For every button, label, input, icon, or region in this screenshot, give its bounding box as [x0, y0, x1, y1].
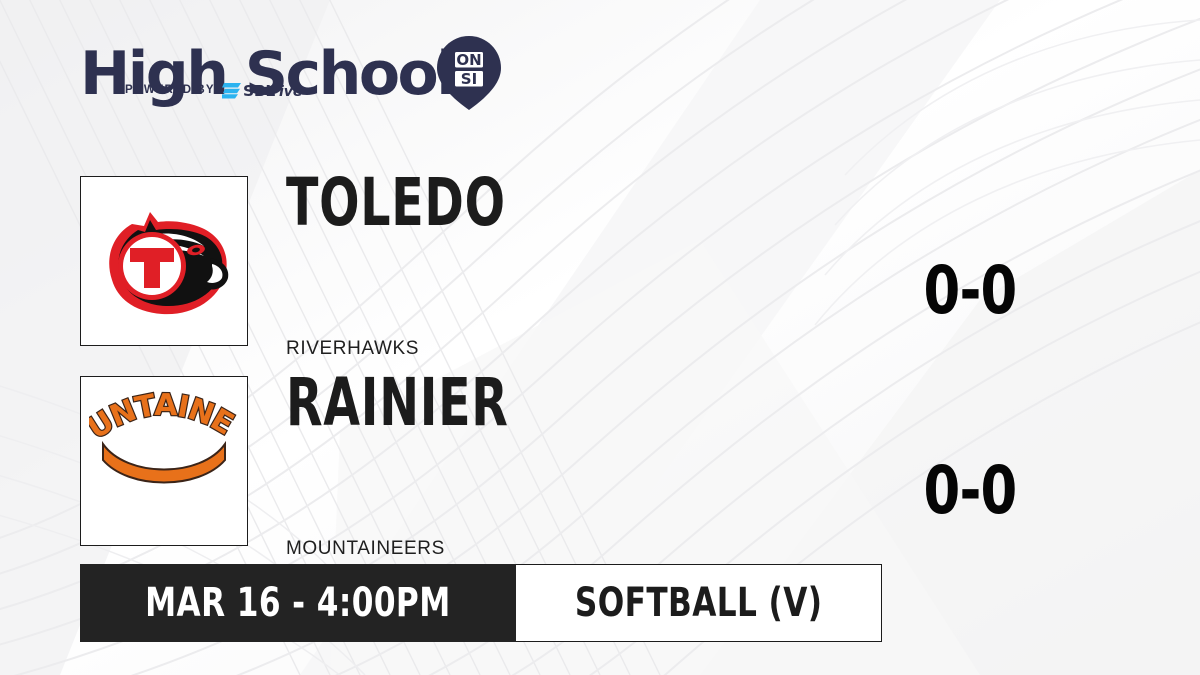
team-mascot-name-1: RIVERHAWKS — [286, 338, 419, 360]
game-info-bar: MAR 16 - 4:00PM SOFTBALL (V) — [80, 564, 882, 642]
onsi-pin-icon: ON SI — [437, 36, 501, 110]
game-datetime-text: MAR 16 - 4:00PM — [145, 583, 451, 623]
team-score-1: 0-0 — [890, 258, 1050, 324]
sblive-wordmark-italic: ive — [279, 84, 302, 100]
powered-by-block: POWERED BY SBL ive — [125, 80, 322, 100]
game-sport-block: SOFTBALL (V) — [516, 564, 882, 642]
game-datetime-block: MAR 16 - 4:00PM — [80, 564, 516, 642]
sblive-logo: SBL ive — [222, 80, 322, 100]
team-mascot-name-2: MOUNTAINEERS — [286, 538, 445, 560]
sblive-logo-svg: SBL ive — [222, 80, 322, 100]
game-sport-text: SOFTBALL (V) — [575, 583, 822, 623]
team-school-name-2: RAINIER — [286, 370, 509, 436]
powered-by-label: POWERED BY — [125, 84, 215, 96]
mountaineers-wordmark-icon: MOUNTAINEERS — [89, 386, 239, 536]
team-logo-box-2: MOUNTAINEERS — [80, 376, 248, 546]
sblive-s-mark — [222, 83, 241, 99]
sblive-wordmark-bold: SBL — [243, 82, 275, 100]
team-school-name-1: TOLEDO — [286, 170, 506, 236]
team-score-2: 0-0 — [890, 458, 1050, 524]
pin-text-on: ON — [456, 51, 481, 69]
team-logo-box-1 — [80, 176, 248, 346]
mountain-peak-notch — [155, 448, 173, 466]
pin-text-si: SI — [461, 70, 477, 88]
mountaineers-text-outline: MOUNTAINEERS — [89, 386, 239, 447]
riverhawk-head-icon — [89, 186, 239, 336]
scoreboard-graphic: High School ON SI POWERED BY SBL — [0, 0, 1200, 675]
map-pin-shape: ON SI — [437, 36, 501, 110]
